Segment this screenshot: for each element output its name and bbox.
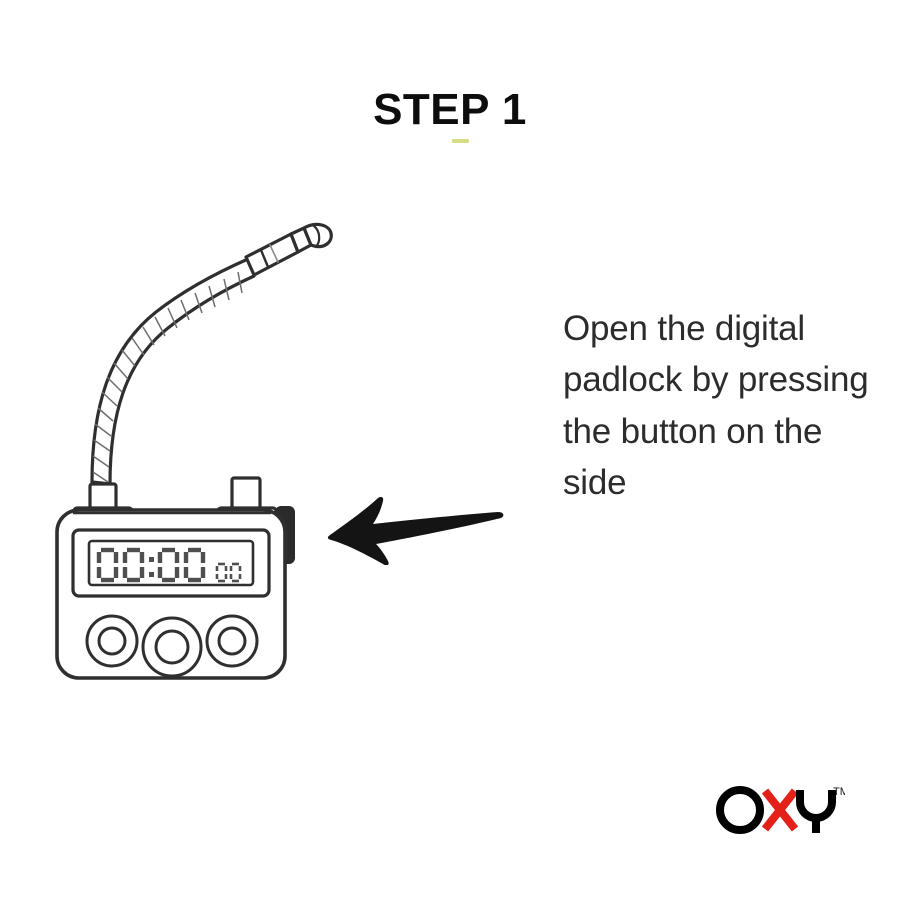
steel-cable-shackle: [92, 259, 254, 484]
title-accent-mark: [452, 139, 469, 143]
digital-padlock-illustration: [48, 200, 358, 690]
page-title: STEP 1: [0, 88, 900, 132]
logo-letter-x: [765, 791, 795, 829]
lcd-bezel: [73, 530, 269, 596]
cable-ferrule-tip: [246, 224, 331, 275]
logo-trademark-mark: TM: [833, 786, 845, 798]
oxy-logo: TM: [715, 778, 845, 840]
instruction-card: STEP 1: [0, 0, 900, 900]
pointer-arrow-left-icon: [318, 485, 508, 565]
keypad-center-button: [143, 618, 201, 676]
instruction-text: Open the digital padlock by pressing the…: [563, 303, 875, 509]
logo-letter-o: [720, 790, 760, 830]
logo-letter-y: [800, 790, 832, 833]
keypad-left-button: [87, 616, 137, 666]
keypad-right-button: [207, 616, 257, 666]
